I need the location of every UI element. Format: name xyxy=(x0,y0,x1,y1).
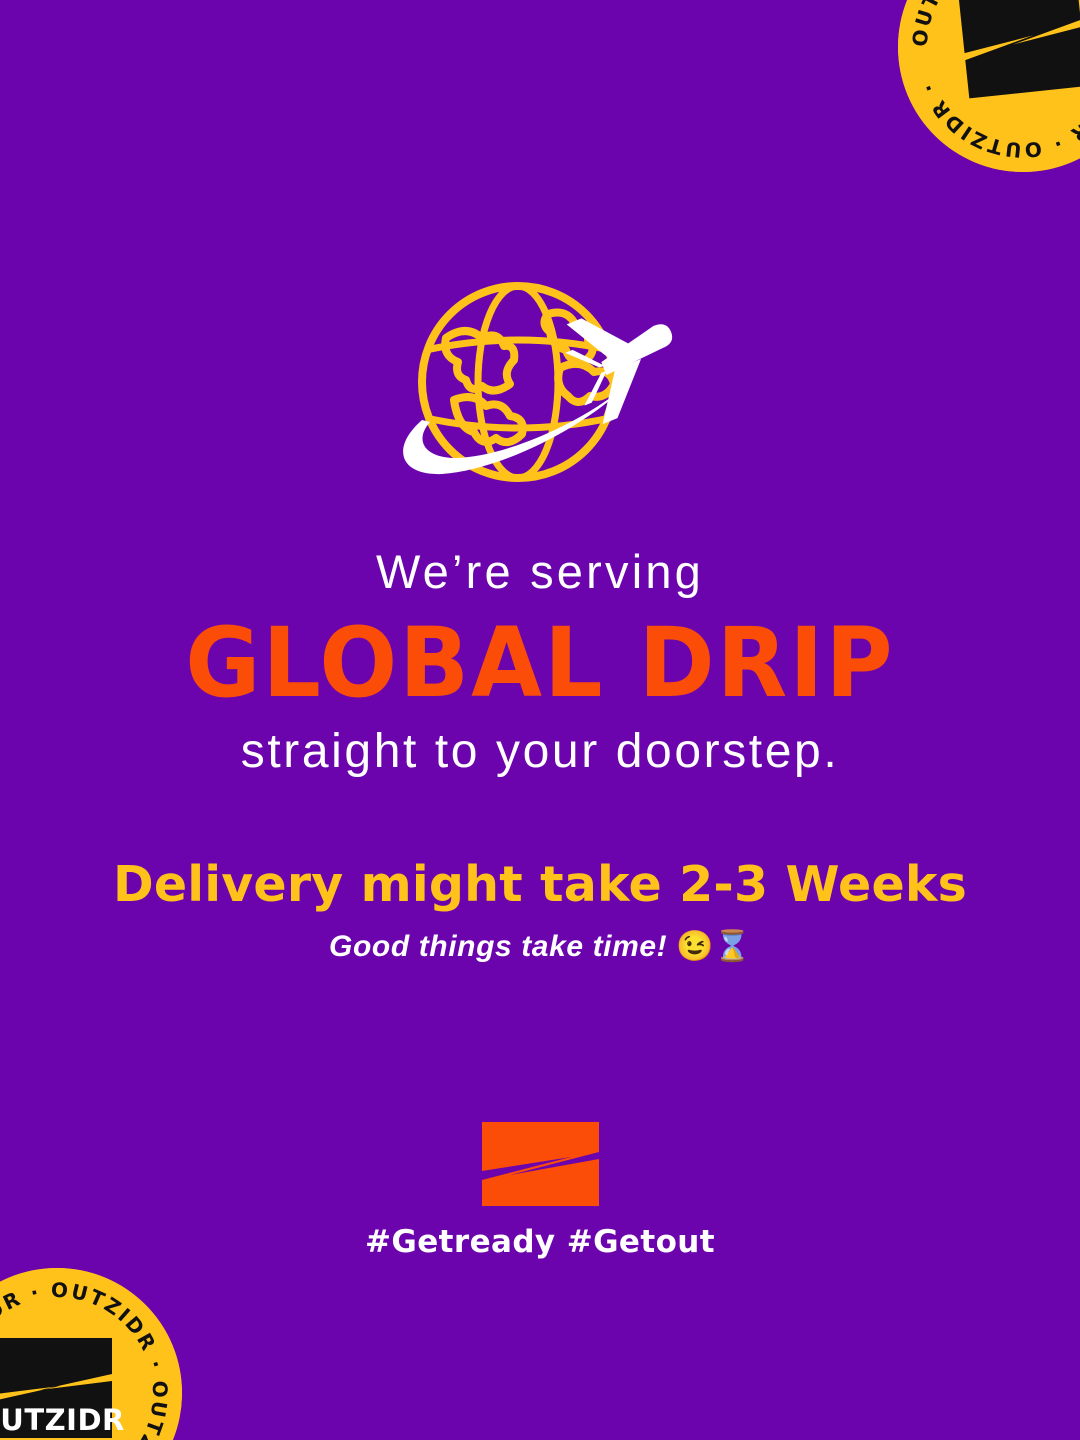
hashtags-text: #Getready #Getout xyxy=(0,1224,1080,1260)
copy-block: We’re serving GLOBAL DRIP straight to yo… xyxy=(0,545,1080,965)
badge-inner-brand: OUTZIDR xyxy=(0,1403,125,1437)
outzidr-z-logo xyxy=(478,1118,603,1210)
reassurance-line: Good things take time! 😉⌛ xyxy=(0,929,1080,965)
outzidr-badge-bottom-left: OUTZIDR · OUTZIDR · OUTZIDR · OUTZIDR · … xyxy=(0,1268,182,1440)
globe-airplane-icon xyxy=(370,272,710,502)
subline-text: straight to your doorstep. xyxy=(0,724,1080,779)
headline-text: GLOBAL DRIP xyxy=(0,613,1080,714)
badge-z-mark xyxy=(958,0,1080,98)
eyebrow-text: We’re serving xyxy=(0,545,1080,599)
poster-canvas: OUTZIDR · OUTZIDR · OUTZIDR · OUTZIDR · … xyxy=(0,0,1080,1440)
reassurance-text: Good things take time! xyxy=(329,930,667,963)
footer-block: #Getready #Getout xyxy=(0,1118,1080,1260)
hero-icon-wrap xyxy=(0,272,1080,502)
delivery-note: Delivery might take 2-3 Weeks xyxy=(0,857,1080,913)
badge-z-mark: OUTZIDR xyxy=(0,1338,125,1438)
outzidr-badge-top-right: OUTZIDR · OUTZIDR · OUTZIDR · OUTZIDR · xyxy=(898,0,1080,172)
reassurance-emoji: 😉⌛ xyxy=(676,930,751,963)
